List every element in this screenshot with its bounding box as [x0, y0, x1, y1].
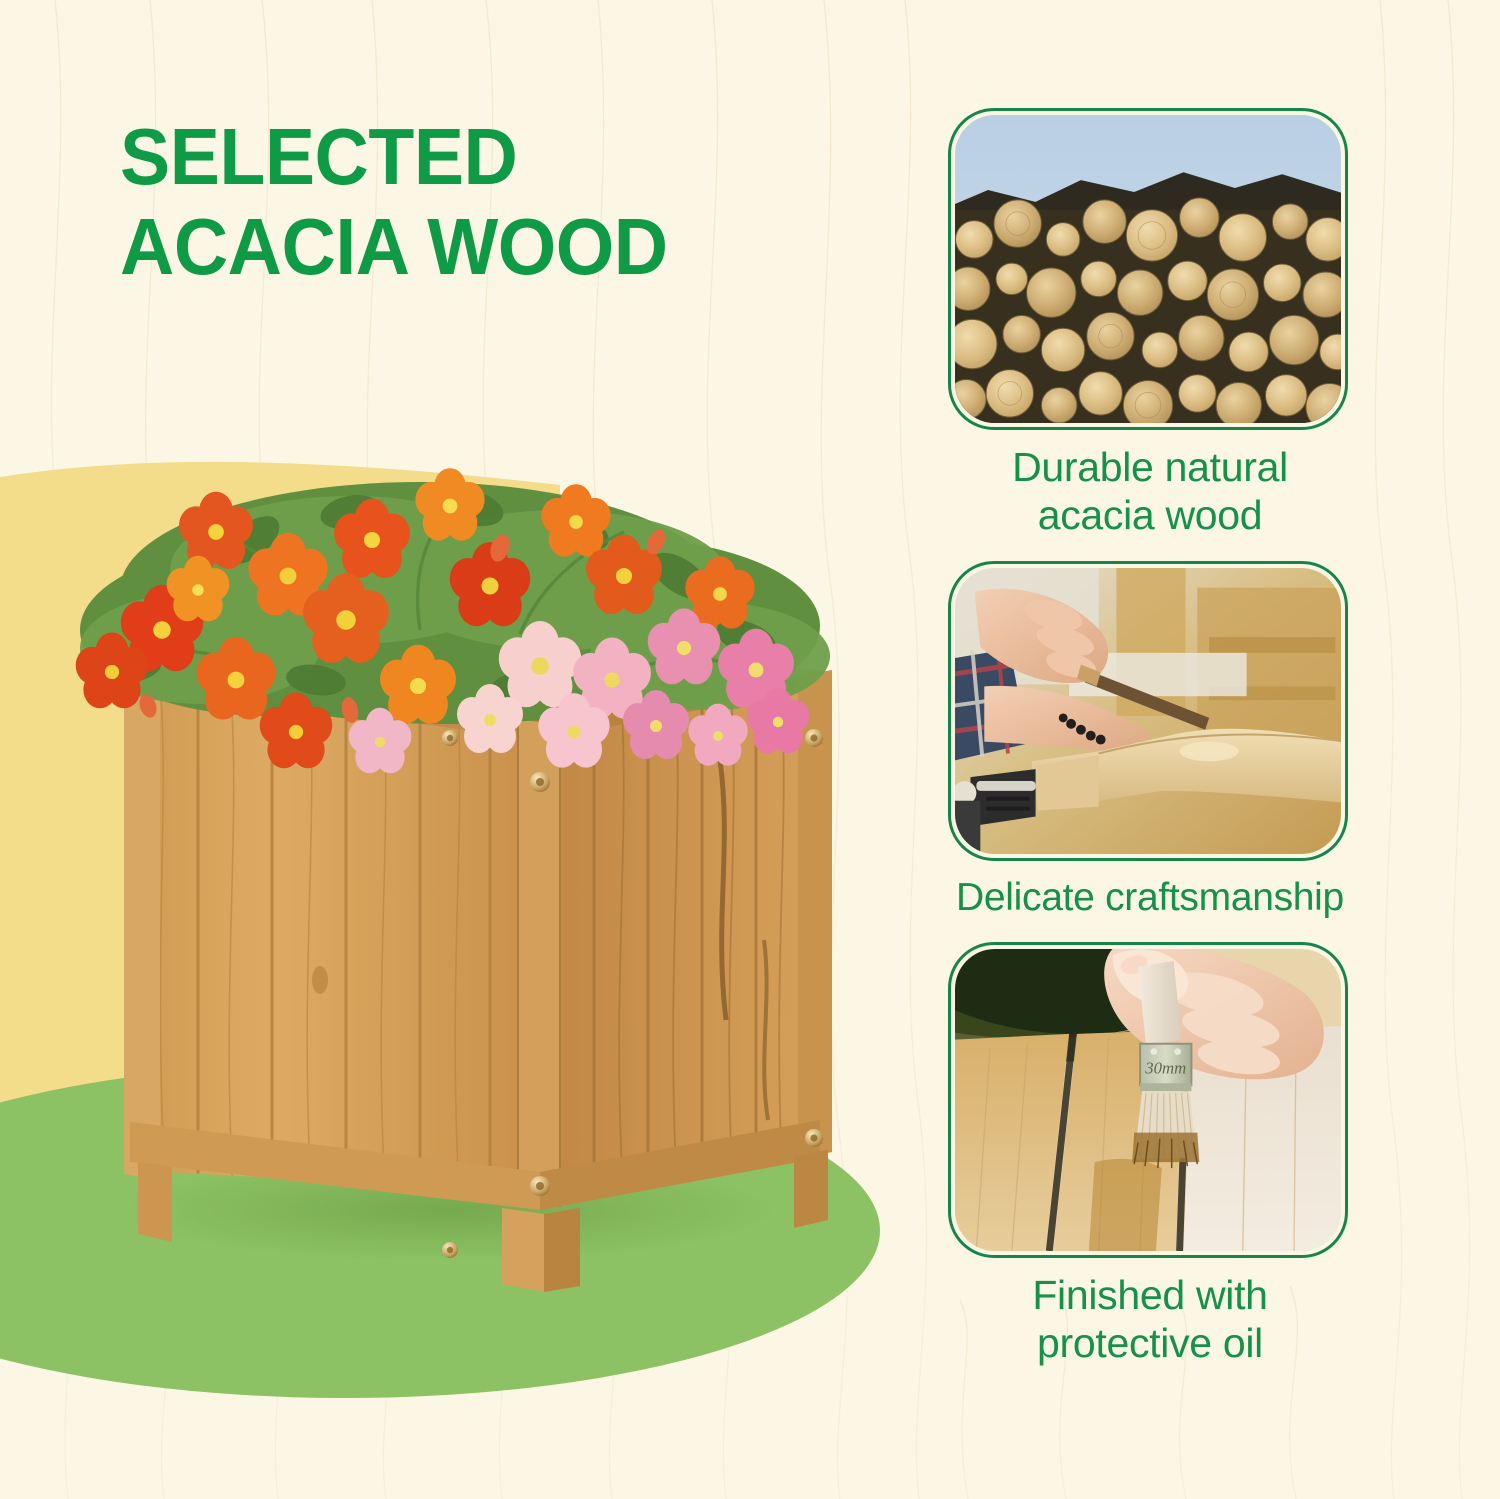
feature-caption: Finished with protective oil — [948, 1272, 1352, 1367]
photo-frame: 30mm — [948, 942, 1348, 1258]
brush-size-label: 30mm — [1144, 1059, 1186, 1078]
feature-durable-wood: Durable natural acacia wood — [948, 108, 1352, 539]
craftsman-shaping-wood-photo — [955, 568, 1341, 854]
stacked-logs-photo — [955, 115, 1341, 423]
product-feature-banner: SELECTED ACACIA WOOD — [0, 0, 1500, 1499]
hero-product-image — [20, 380, 880, 1310]
feature-list: Durable natural acacia wood — [948, 108, 1352, 1367]
photo-frame — [948, 108, 1348, 430]
photo-frame — [948, 561, 1348, 861]
feature-caption: Delicate craftsmanship — [948, 875, 1352, 920]
feature-caption: Durable natural acacia wood — [948, 444, 1352, 539]
feature-craftsmanship: Delicate craftsmanship — [948, 561, 1352, 920]
oiling-deck-photo: 30mm — [955, 949, 1341, 1251]
feature-protective-oil: 30mm — [948, 942, 1352, 1367]
page-title: SELECTED ACACIA WOOD — [120, 112, 834, 291]
